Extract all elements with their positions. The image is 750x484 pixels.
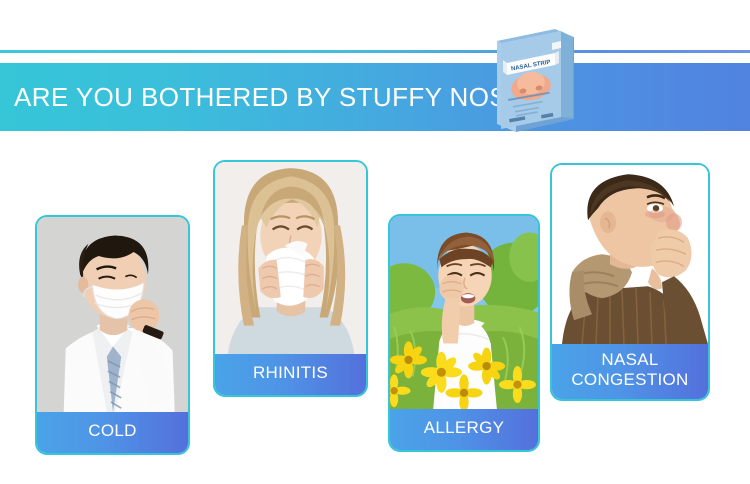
card-label-congestion: NASAL CONGESTION [552,344,708,399]
box-artwork: NASAL STRIP [501,31,573,129]
condition-card-allergy[interactable]: ALLERGY [388,214,540,452]
card-label-cold: COLD [37,412,188,453]
condition-card-rhinitis[interactable]: RHINITIS [213,160,368,397]
card-label-congestion-line1: NASAL [556,350,704,371]
photo-cold [37,217,188,412]
condition-card-cold[interactable]: COLD [35,215,190,455]
nasal-strip-box: NASAL STRIP [489,27,575,134]
top-accent-rule [0,50,750,53]
headline-banner: ARE YOU BOTHERED BY STUFFY NOSE? [0,63,750,131]
photo-rhinitis [215,162,366,354]
card-label-rhinitis: RHINITIS [215,354,366,395]
card-label-allergy: ALLERGY [390,409,538,450]
photo-congestion [552,165,708,344]
card-label-congestion-line2: CONGESTION [556,370,704,391]
page-title: ARE YOU BOTHERED BY STUFFY NOSE? [14,82,540,113]
condition-card-congestion[interactable]: NASAL CONGESTION [550,163,710,401]
photo-allergy [390,216,538,409]
